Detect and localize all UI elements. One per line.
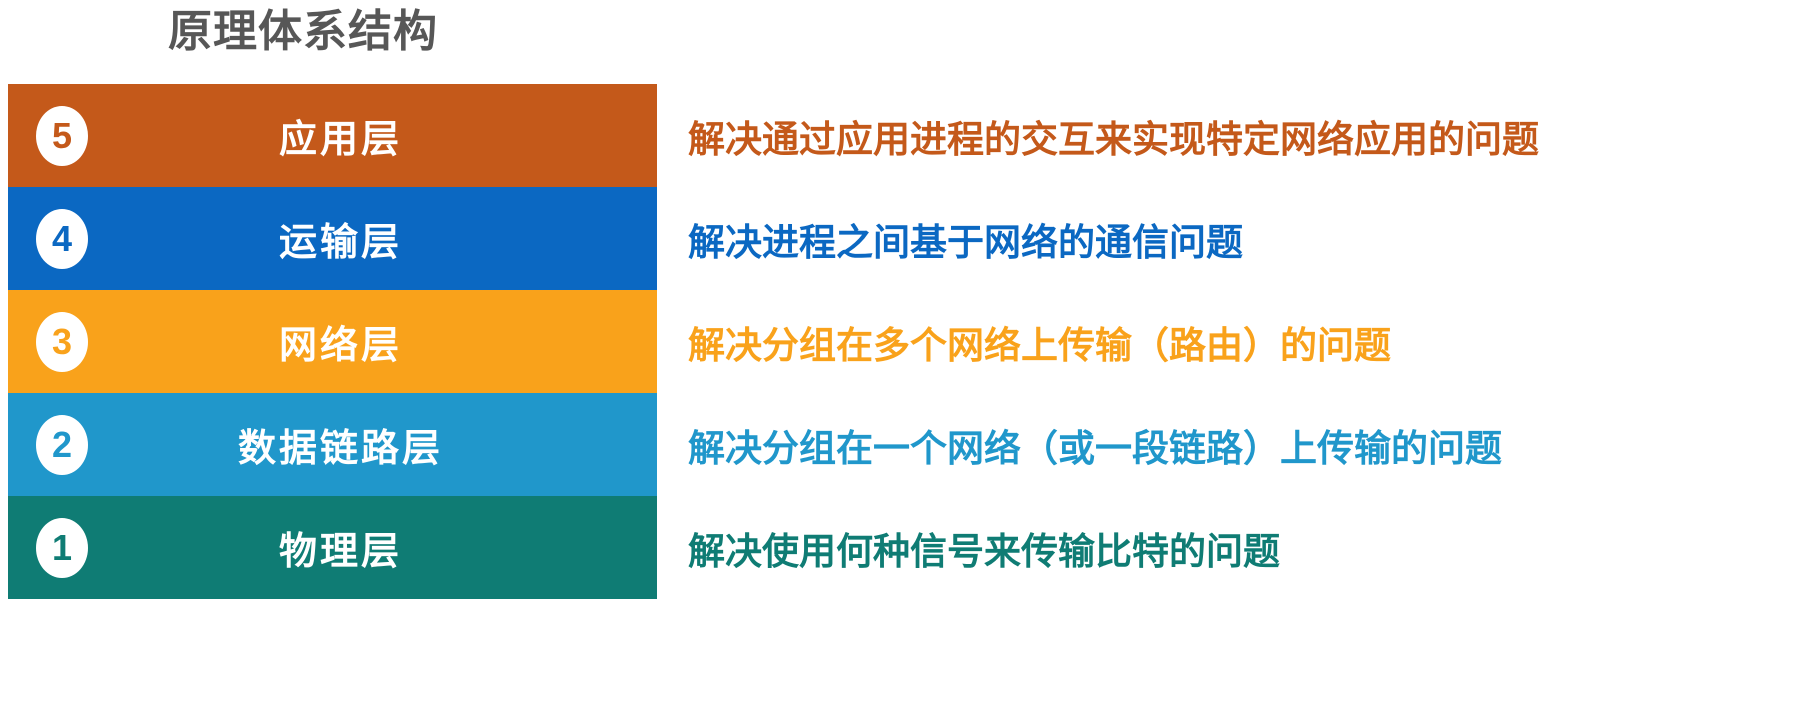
layer-name-label: 网络层 <box>88 314 657 369</box>
layer-bar-transport[interactable]: 4 运输层 <box>8 187 657 290</box>
layer-number-badge: 5 <box>36 106 88 166</box>
layer-description-cell: 解决进程之间基于网络的通信问题 <box>657 187 1790 290</box>
layer-description-text: 解决分组在多个网络上传输（路由）的问题 <box>688 315 1391 369</box>
layer-row-network[interactable]: 3 网络层 解决分组在多个网络上传输（路由）的问题 <box>8 290 1790 393</box>
slide-canvas: 原理体系结构 5 应用层 解决通过应用进程的交互来实现特定网络应用的问题 4 运… <box>0 0 1797 705</box>
layer-bar-network[interactable]: 3 网络层 <box>8 290 657 393</box>
layer-number-badge: 4 <box>36 209 88 269</box>
layer-description-cell: 解决使用何种信号来传输比特的问题 <box>657 496 1790 599</box>
layer-stack: 5 应用层 解决通过应用进程的交互来实现特定网络应用的问题 4 运输层 解决进程… <box>8 84 1790 599</box>
layer-description-cell: 解决分组在多个网络上传输（路由）的问题 <box>657 290 1790 393</box>
layer-description-text: 解决使用何种信号来传输比特的问题 <box>688 521 1280 575</box>
layer-number-badge: 3 <box>36 312 88 372</box>
page-title: 原理体系结构 <box>168 2 438 62</box>
layer-row-data-link[interactable]: 2 数据链路层 解决分组在一个网络（或一段链路）上传输的问题 <box>8 393 1790 496</box>
layer-row-transport[interactable]: 4 运输层 解决进程之间基于网络的通信问题 <box>8 187 1790 290</box>
layer-description-text: 解决通过应用进程的交互来实现特定网络应用的问题 <box>688 109 1539 163</box>
layer-bar-data-link[interactable]: 2 数据链路层 <box>8 393 657 496</box>
layer-row-physical[interactable]: 1 物理层 解决使用何种信号来传输比特的问题 <box>8 496 1790 599</box>
layer-name-label: 物理层 <box>88 520 657 575</box>
layer-name-label: 数据链路层 <box>88 417 657 472</box>
layer-name-label: 应用层 <box>88 108 657 163</box>
layer-bar-application[interactable]: 5 应用层 <box>8 84 657 187</box>
layer-description-cell: 解决分组在一个网络（或一段链路）上传输的问题 <box>657 393 1790 496</box>
layer-description-text: 解决分组在一个网络（或一段链路）上传输的问题 <box>688 418 1502 472</box>
layer-description-cell: 解决通过应用进程的交互来实现特定网络应用的问题 <box>657 84 1790 187</box>
layer-bar-physical[interactable]: 1 物理层 <box>8 496 657 599</box>
layer-row-application[interactable]: 5 应用层 解决通过应用进程的交互来实现特定网络应用的问题 <box>8 84 1790 187</box>
layer-name-label: 运输层 <box>88 211 657 266</box>
layer-description-text: 解决进程之间基于网络的通信问题 <box>688 212 1243 266</box>
layer-number-badge: 2 <box>36 415 88 475</box>
layer-number-badge: 1 <box>36 518 88 578</box>
